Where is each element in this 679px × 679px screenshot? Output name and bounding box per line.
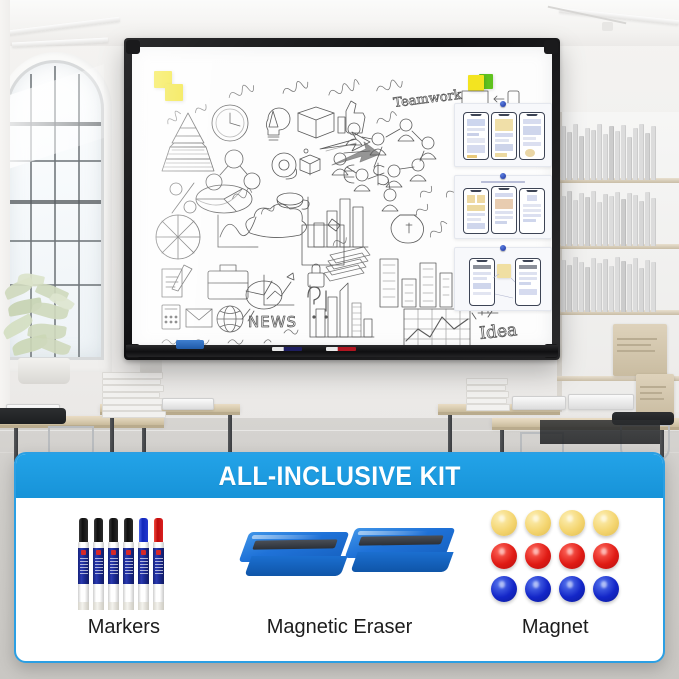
phone-mockup <box>491 186 517 234</box>
magnet-blue-3[interactable] <box>559 576 585 602</box>
marker-red[interactable] <box>153 518 164 610</box>
book-stack-right <box>466 378 508 411</box>
svg-text:Teamwork: Teamwork <box>393 88 463 111</box>
tray-marker-red[interactable] <box>326 347 356 351</box>
phone-mockup <box>463 188 489 234</box>
books-shelf-2 <box>561 188 677 246</box>
phone-mockup <box>463 112 489 160</box>
magnet-illustration <box>447 498 663 616</box>
desk-left-back-leg-1 <box>110 415 114 455</box>
kit-column-markers: Markers <box>16 498 232 663</box>
whiteboard[interactable]: NEWS <box>124 38 560 360</box>
shelving-dark-band <box>540 420 660 444</box>
desk-left-back-leg-2 <box>228 415 232 455</box>
marker-black-1[interactable] <box>78 518 89 610</box>
magnet-red-4[interactable] <box>593 543 619 569</box>
paper-mockup-middle[interactable] <box>454 175 552 239</box>
all-inclusive-kit-card: ALL-INCLUSIVE KIT <box>14 452 665 663</box>
plant-pot <box>18 358 70 384</box>
kit-body: Markers Magnetic Eraser <box>16 498 663 663</box>
magnet-red-2[interactable] <box>525 543 551 569</box>
tray-marker-blue[interactable] <box>272 347 302 351</box>
magnet-red-1[interactable] <box>491 543 517 569</box>
desk-right-back-leg-1 <box>448 415 452 453</box>
marker-black-2[interactable] <box>93 518 104 610</box>
document-binder <box>613 324 667 376</box>
paper-mockup-bottom[interactable] <box>454 247 552 311</box>
svg-text:Idea: Idea <box>478 320 518 344</box>
magnet-label: Magnet <box>522 616 589 639</box>
magnet-blue-2[interactable] <box>525 576 551 602</box>
magnet-yellow-1[interactable] <box>491 510 517 536</box>
phone-mockup <box>491 112 517 160</box>
magnet-blue-4[interactable] <box>593 576 619 602</box>
tray-eraser-blue[interactable] <box>176 340 204 349</box>
track-light-lamp <box>602 22 613 31</box>
books-shelf-3 <box>561 254 677 312</box>
kit-column-eraser: Magnetic Eraser <box>232 498 448 663</box>
potted-plant <box>2 272 88 384</box>
kit-column-magnet: Magnet <box>447 498 663 663</box>
phone-mockup <box>519 112 545 160</box>
book-stack-left <box>102 372 164 418</box>
magnet-yellow-2[interactable] <box>525 510 551 536</box>
bookshelf <box>557 112 679 412</box>
kit-banner-title: ALL-INCLUSIVE KIT <box>218 461 460 492</box>
magnet-pin-1[interactable] <box>500 101 506 107</box>
magnet-pin-2[interactable] <box>500 173 506 179</box>
paper-mockup-top[interactable] <box>454 103 552 167</box>
eraser-illustration <box>232 498 448 616</box>
paper-tray-right-2 <box>568 394 634 410</box>
magnet-yellow-4[interactable] <box>593 510 619 536</box>
chair-left <box>0 408 66 424</box>
marker-blue[interactable] <box>138 518 149 610</box>
marker-black-3[interactable] <box>108 518 119 610</box>
magnet-blue-1[interactable] <box>491 576 517 602</box>
paper-tray-right-1 <box>512 396 566 410</box>
eraser-label: Magnetic Eraser <box>267 616 413 639</box>
magnetic-eraser-1[interactable] <box>244 532 348 584</box>
magnet-grid <box>491 510 619 602</box>
magnet-yellow-3[interactable] <box>559 510 585 536</box>
marker-black-4[interactable] <box>123 518 134 610</box>
books-shelf-1 <box>561 122 677 180</box>
kit-banner: ALL-INCLUSIVE KIT <box>16 454 663 498</box>
magnet-red-3[interactable] <box>559 543 585 569</box>
magnetic-eraser-2[interactable] <box>350 528 454 580</box>
frame-corner-top-left <box>126 40 140 54</box>
svg-text:NEWS: NEWS <box>248 313 297 331</box>
whiteboard-surface[interactable]: NEWS <box>132 47 552 349</box>
markers-label: Markers <box>88 616 160 639</box>
phone-mockup <box>519 188 545 234</box>
paper-tray-left-2 <box>162 398 214 410</box>
markers-illustration <box>16 498 232 616</box>
frame-corner-top-right <box>544 40 558 54</box>
product-image-stage: NEWS <box>0 0 679 679</box>
